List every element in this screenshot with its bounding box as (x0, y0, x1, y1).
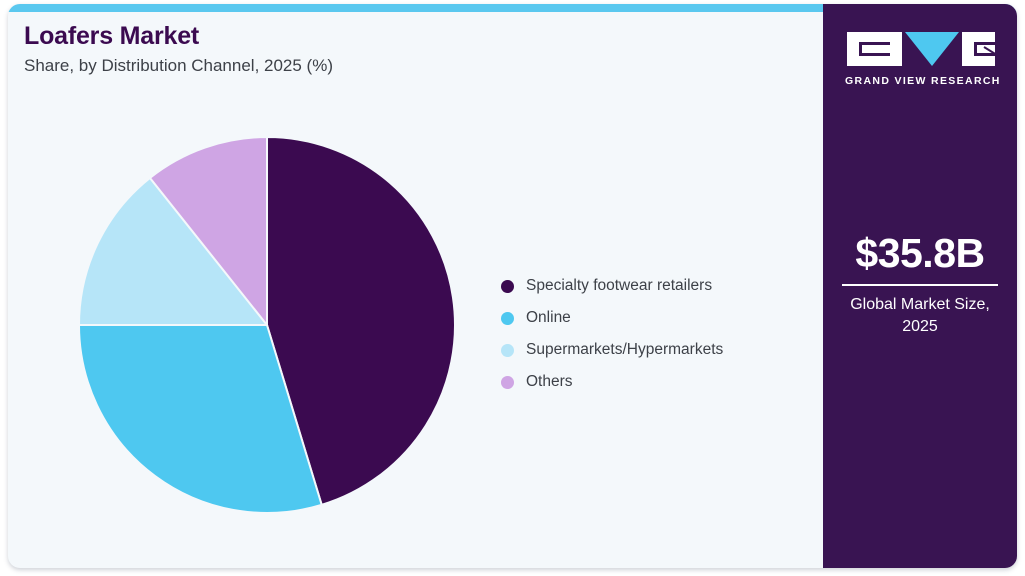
logo-triangle-icon (905, 32, 959, 66)
legend-swatch-icon (501, 280, 514, 293)
pie-slice-group (79, 137, 455, 513)
brand-side-panel: GRAND VIEW RESEARCH $35.8B Global Market… (823, 4, 1017, 568)
brand-logo-text: GRAND VIEW RESEARCH (845, 75, 995, 87)
pie-chart-svg (77, 135, 457, 515)
legend-item-others[interactable]: Others (501, 366, 801, 398)
legend-swatch-icon (501, 344, 514, 357)
stat-divider (842, 284, 998, 286)
brand-logo: GRAND VIEW RESEARCH (845, 30, 995, 87)
legend-swatch-icon (501, 376, 514, 389)
legend-label: Supermarkets/Hypermarkets (526, 341, 723, 359)
market-size-stat: $35.8B Global Market Size, 2025 (823, 232, 1017, 337)
legend-label: Others (526, 373, 573, 391)
legend-label: Online (526, 309, 571, 327)
pie-chart (77, 135, 457, 515)
market-size-caption: Global Market Size, 2025 (833, 294, 1007, 337)
legend-item-supermarkets-hypermarkets[interactable]: Supermarkets/Hypermarkets (501, 334, 801, 366)
infographic-root: Loafers Market Share, by Distribution Ch… (0, 0, 1025, 576)
header: Loafers Market Share, by Distribution Ch… (24, 22, 724, 76)
chart-legend: Specialty footwear retailers Online Supe… (501, 270, 801, 398)
chart-card: Loafers Market Share, by Distribution Ch… (8, 4, 1017, 568)
legend-item-online[interactable]: Online (501, 302, 801, 334)
market-size-value: $35.8B (833, 232, 1007, 275)
gvr-logo-mark-icon (845, 30, 995, 68)
page-title: Loafers Market (24, 22, 724, 51)
legend-label: Specialty footwear retailers (526, 277, 712, 295)
page-subtitle: Share, by Distribution Channel, 2025 (%) (24, 56, 724, 76)
legend-swatch-icon (501, 312, 514, 325)
legend-item-specialty-footwear-retailers[interactable]: Specialty footwear retailers (501, 270, 801, 302)
